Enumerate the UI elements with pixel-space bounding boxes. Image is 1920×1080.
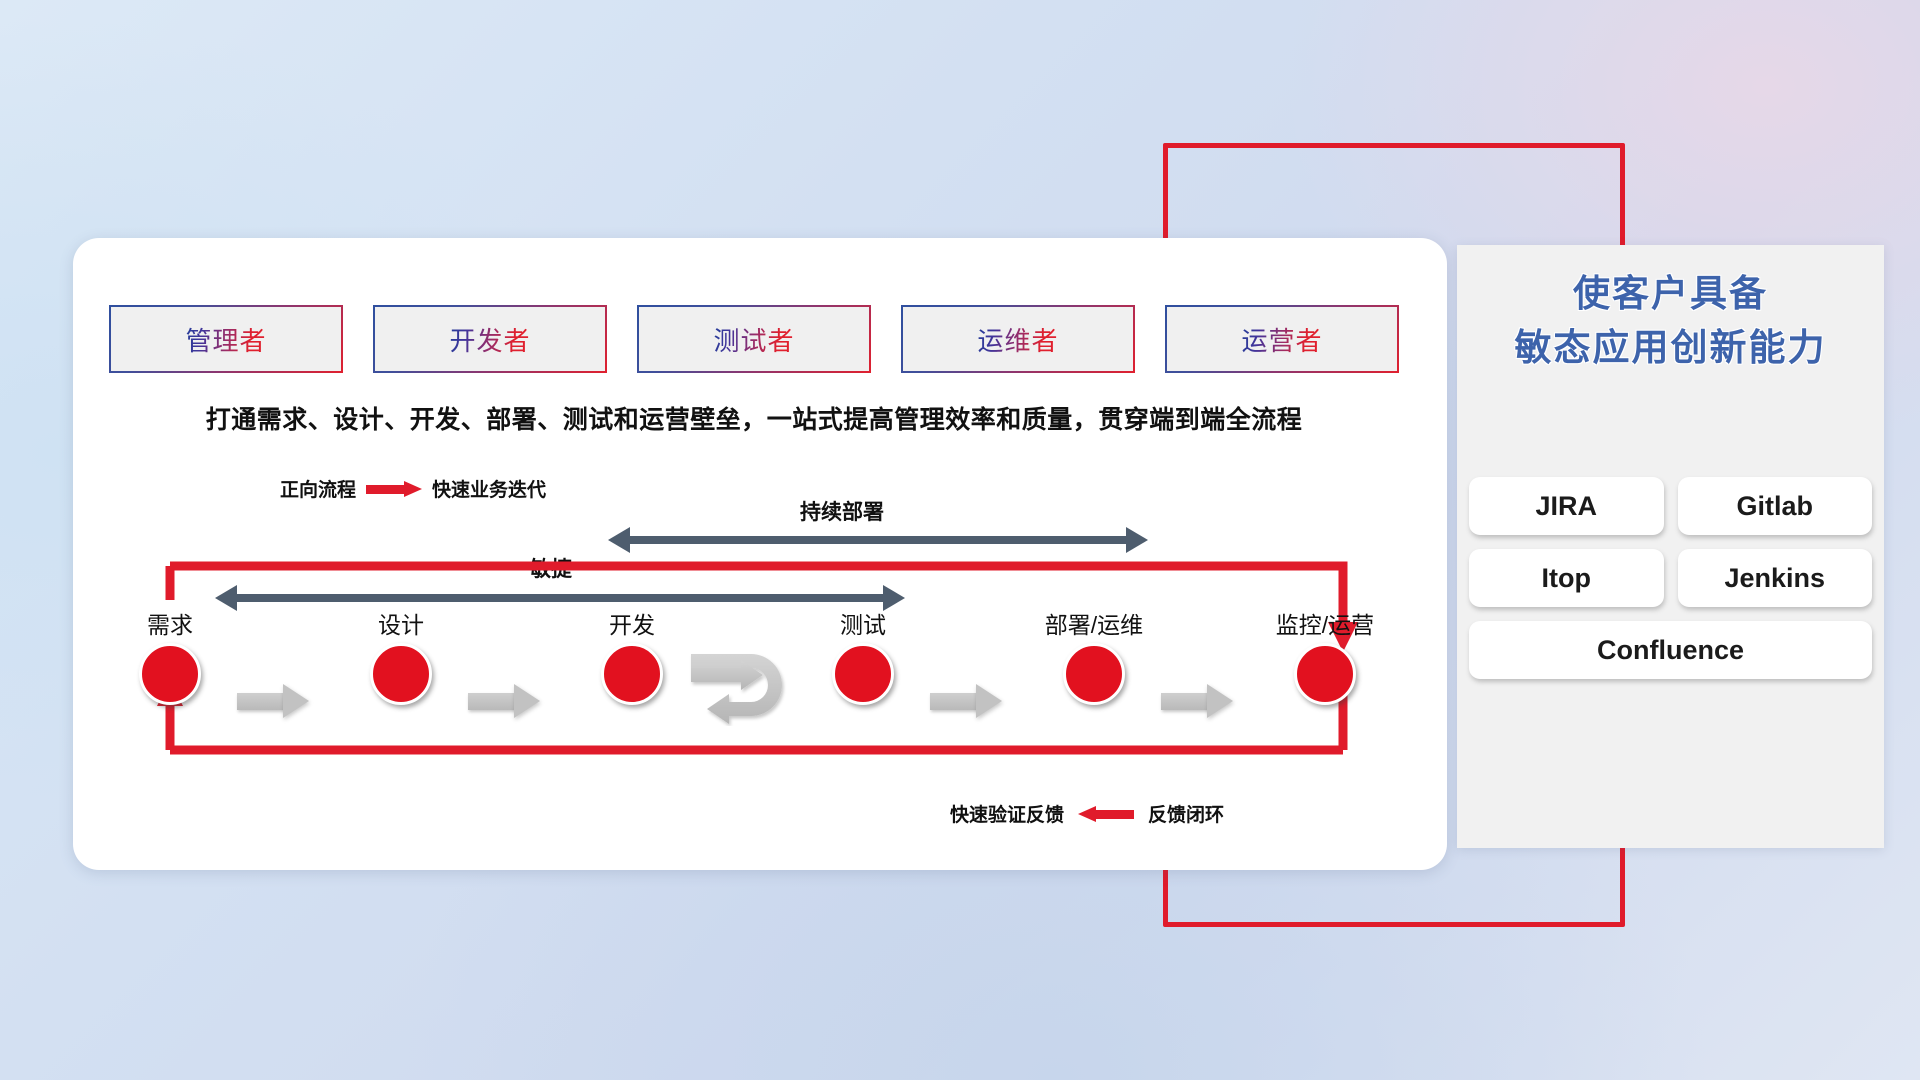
legend-feedback-right-label: 反馈闭环 [1148, 800, 1224, 827]
role-label: 管理者 [185, 321, 266, 358]
arrow-bar [1161, 693, 1209, 710]
panel-title-line-1: 使客户具备 [1457, 267, 1884, 321]
stage-dot-icon [139, 643, 201, 705]
stage-label: 测试 [803, 614, 923, 637]
arrow-head-right-icon [976, 684, 1002, 718]
stage-label: 需求 [110, 614, 230, 637]
arrow-head-right-icon [883, 585, 905, 611]
span-label-agile: 敏捷 [530, 553, 572, 583]
stage-dot-icon [1063, 643, 1125, 705]
pipeline-stage-design[interactable]: 设计 [341, 614, 461, 705]
capability-panel: 使客户具备 敏态应用创新能力 JIRA Gitlab Itop Jenkins … [1457, 245, 1884, 848]
role-label: 开发者 [449, 321, 530, 358]
stage-dot-icon [601, 643, 663, 705]
role-box-developer[interactable]: 开发者 [373, 305, 607, 373]
connector-arrow-right-grey [1161, 684, 1233, 718]
stage-dot-icon [832, 643, 894, 705]
connector-arrow-right-grey [468, 684, 540, 718]
arrow-head-left-icon [215, 585, 237, 611]
arrow-bar [237, 594, 883, 602]
description-text: 打通需求、设计、开发、部署、测试和运营壁垒，一站式提高管理效率和质量，贯穿端到端… [109, 400, 1399, 436]
role-label: 运营者 [1241, 321, 1322, 358]
stage-dot-icon [370, 643, 432, 705]
connector-arrow-right-grey [237, 684, 309, 718]
span-arrow-agile [215, 585, 905, 611]
arrow-bar [468, 693, 516, 710]
role-box-row: 管理者 开发者 测试者 运维者 运营者 [109, 305, 1399, 373]
stage-dot-icon [1294, 643, 1356, 705]
panel-title: 使客户具备 敏态应用创新能力 [1457, 245, 1884, 374]
role-box-operator[interactable]: 运营者 [1165, 305, 1399, 373]
role-label: 测试者 [713, 321, 794, 358]
arrow-head-right-icon [1207, 684, 1233, 718]
pipeline-stage-requirement[interactable]: 需求 [110, 614, 230, 705]
role-box-tester[interactable]: 测试者 [637, 305, 871, 373]
pipeline-stage-development[interactable]: 开发 [572, 614, 692, 705]
tool-chip-list: JIRA Gitlab Itop Jenkins Confluence [1469, 477, 1872, 679]
stage-label: 设计 [341, 614, 461, 637]
connector-arrow-right-grey [930, 684, 1002, 718]
legend-forward-right-label: 快速业务迭代 [432, 475, 546, 502]
role-box-ops[interactable]: 运维者 [901, 305, 1135, 373]
pipeline-stage-testing[interactable]: 测试 [803, 614, 923, 705]
tool-chip-itop[interactable]: Itop [1469, 549, 1664, 607]
tool-chip-confluence[interactable]: Confluence [1469, 621, 1872, 679]
tool-chip-jira[interactable]: JIRA [1469, 477, 1664, 535]
pipeline-stage-deploy-ops[interactable]: 部署/运维 [1034, 614, 1154, 705]
arrow-head-right-icon [1126, 527, 1148, 553]
tool-chip-jenkins[interactable]: Jenkins [1678, 549, 1873, 607]
arrow-right-red-icon [366, 481, 422, 497]
stage-label: 监控/运营 [1265, 614, 1385, 637]
arrow-head-right-icon [283, 684, 309, 718]
span-label-continuous-deployment: 持续部署 [800, 496, 884, 526]
legend-forward-flow: 正向流程 快速业务迭代 [280, 475, 546, 502]
pipeline-row: 需求 设计 开发 [109, 614, 1399, 734]
arrow-head-right-icon [514, 684, 540, 718]
slide-canvas: 管理者 开发者 测试者 运维者 运营者 打通需求、设计、开发、部署、测试和运营壁… [0, 0, 1920, 1080]
stage-label: 开发 [572, 614, 692, 637]
role-label: 运维者 [977, 321, 1058, 358]
panel-title-line-2: 敏态应用创新能力 [1457, 321, 1884, 375]
legend-feedback-left-label: 快速验证反馈 [950, 800, 1064, 827]
legend-feedback-loop: 快速验证反馈 反馈闭环 [950, 800, 1224, 827]
arrow-bar [630, 536, 1126, 544]
arrow-head-left-icon [608, 527, 630, 553]
arrow-left-red-icon [1078, 806, 1134, 822]
arrow-bar [237, 693, 285, 710]
role-box-manager[interactable]: 管理者 [109, 305, 343, 373]
connector-loop-back-grey-icon [689, 648, 807, 726]
stage-label: 部署/运维 [1034, 614, 1154, 637]
legend-forward-left-label: 正向流程 [280, 475, 356, 502]
span-arrow-continuous-deployment [608, 527, 1148, 553]
pipeline-stage-monitor-operate[interactable]: 监控/运营 [1265, 614, 1385, 705]
tool-chip-gitlab[interactable]: Gitlab [1678, 477, 1873, 535]
arrow-bar [930, 693, 978, 710]
